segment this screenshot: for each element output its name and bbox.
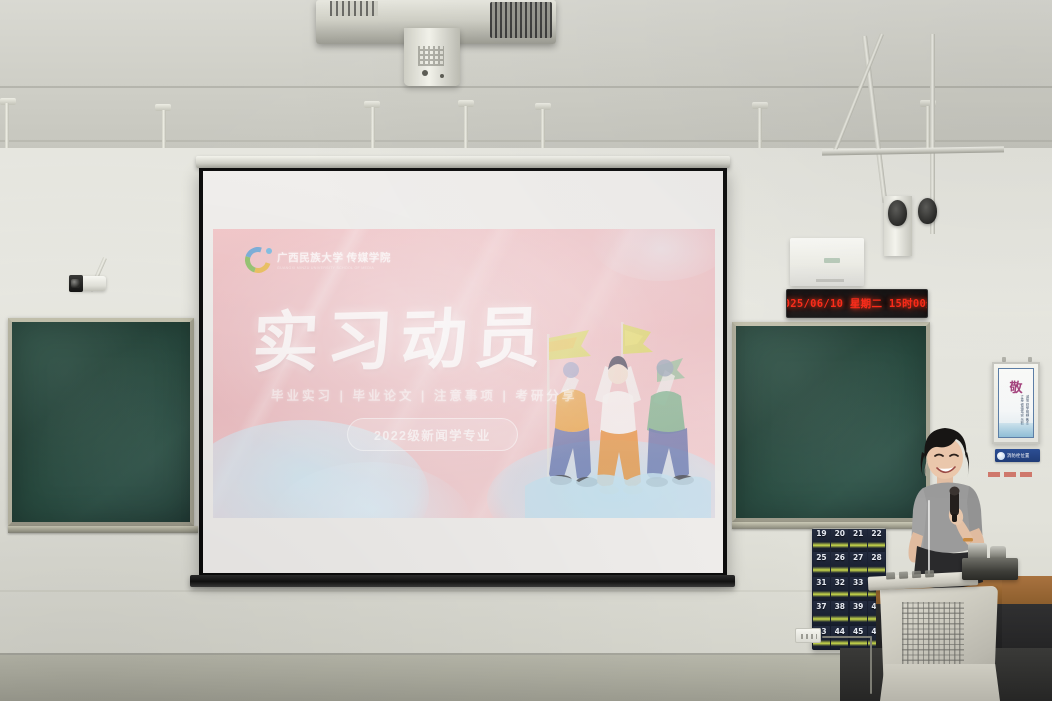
pocket-number: 33 [853,578,863,587]
pocket-number: 38 [835,602,845,611]
pocket-number: 26 [835,553,845,562]
pocket-number: 28 [871,553,881,562]
university-swoosh-logo-icon [245,247,271,273]
power-cable [870,636,872,694]
poster-columns: 诚信立身 勤学修德 明辨笃实 敬业乐群 [1003,395,1029,425]
wall-amplifier-box [790,238,864,286]
poster-column: 明辨笃实 [1003,410,1029,418]
wall-power-outlet[interactable] [795,628,821,643]
projected-slide: 广西民族大学传媒学院 GUANGXI MINZU UNIVERSITY SCHO… [213,229,715,518]
pocket-slot[interactable]: 39 [850,601,867,625]
pocket-number: 22 [871,529,881,538]
slide-title: 实习动员 [250,284,551,386]
pocket-slot[interactable]: 32 [831,577,848,601]
wall-speaker [918,198,937,224]
pocket-slot[interactable]: 22 [868,528,885,552]
pocket-slot[interactable]: 31 [813,577,830,601]
pocket-number: 20 [835,529,845,538]
projection-screen: 广西民族大学传媒学院 GUANGXI MINZU UNIVERSITY SCHO… [199,168,727,578]
logo-english-name: GUANGXI MINZU UNIVERSITY SCHOOL OF MEDIA [277,266,391,270]
left-blackboard [8,318,194,526]
pocket-row: 37 38 39 40 [812,601,886,625]
led-clock-display: 2025/06/10 星期二 15时00分 [786,289,928,318]
pocket-number: 19 [816,529,826,538]
pocket-number: 44 [835,627,845,636]
control-key[interactable] [899,571,908,578]
pocket-slot[interactable]: 21 [850,528,867,552]
logo-university-name: 广西民族大学 [277,252,344,264]
pocket-slot[interactable]: 27 [850,552,867,576]
wall-speaker [888,200,907,226]
classroom-scene: 广西民族大学传媒学院 GUANGXI MINZU UNIVERSITY SCHO… [0,0,1052,701]
pocket-slot[interactable]: 25 [813,552,830,576]
projection-screen-weight-bar [190,575,735,587]
pocket-slot[interactable]: 38 [831,601,848,625]
pocket-slot[interactable]: 37 [813,601,830,625]
control-key[interactable] [925,570,934,577]
pocket-row: 25 26 27 28 [812,552,886,576]
slide-class-pill: 2022级新闻学专业 [347,418,518,451]
framed-calligraphy-poster: 敬 诚信立身 勤学修德 明辨笃实 敬业乐群 [992,362,1040,444]
logo-department-name: 传媒学院 [347,252,391,264]
poster-column: 勤学修德 [1003,403,1029,411]
pocket-number: 32 [835,578,845,587]
pocket-number: 37 [816,602,826,611]
poster-column: 诚信立身 [1003,395,1029,403]
fire-hydrant-sign: 消防栓位置 [995,449,1040,462]
pocket-slot[interactable]: 26 [831,552,848,576]
poster-big-character: 敬 [1009,377,1022,396]
pocket-number: 31 [816,578,826,587]
pocket-number: 39 [853,602,863,611]
control-key[interactable] [886,572,895,579]
pocket-number: 21 [853,529,863,538]
audio-receiver-unit [962,558,1018,580]
university-logo: 广西民族大学传媒学院 GUANGXI MINZU UNIVERSITY SCHO… [245,247,391,273]
pocket-number: 27 [853,553,863,562]
three-cheering-students-illustration [525,308,711,518]
slide-subtitle: 毕业实习 | 毕业论文 | 注意事项 | 考研分享 [271,385,577,404]
pocket-row: 19 20 21 22 [812,528,886,552]
control-key[interactable] [912,570,921,577]
fire-hydrant-sign-text: 消防栓位置 [1007,453,1029,459]
microphone-cable [928,500,930,578]
pocket-slot[interactable]: 19 [813,528,830,552]
lectern-pedestal [880,664,1000,701]
pocket-number: 45 [853,627,863,636]
led-clock-text: 2025/06/10 星期二 15时00分 [786,296,928,311]
camera-lens-icon [69,275,83,292]
lectern-speaker-grille [902,602,964,666]
pocket-slot[interactable]: 33 [850,577,867,601]
pocket-number: 25 [816,553,826,562]
power-cable [822,636,872,638]
projection-screen-housing [196,156,730,168]
pocket-slot[interactable]: 20 [831,528,848,552]
desk-right-section [1002,576,1052,606]
ceiling-projector [316,0,556,52]
